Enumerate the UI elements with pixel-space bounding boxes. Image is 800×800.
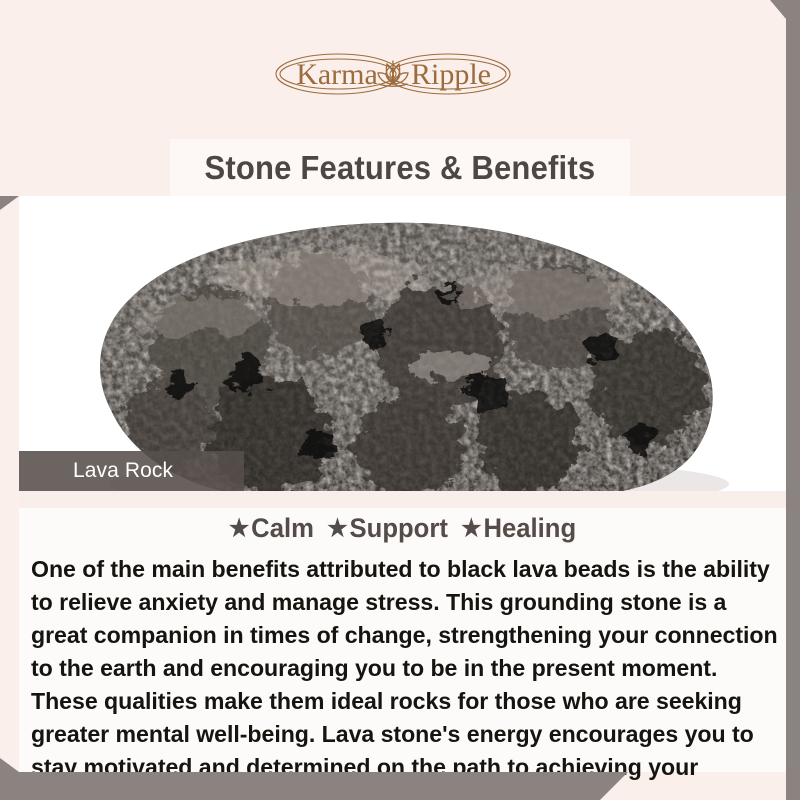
- header-region: Karma Ripple Stone Features & Benefits: [0, 0, 786, 196]
- corner-bevel-left: [0, 196, 19, 210]
- star-icon: ★: [327, 515, 347, 542]
- benefit-label-calm: Calm: [251, 513, 314, 543]
- frame-bottom-bar-bevel: [600, 772, 628, 800]
- brand-logo-svg: Karma Ripple: [243, 44, 543, 104]
- frame-right-bar: [786, 0, 800, 800]
- corner-bevel-bottom-left: [0, 758, 19, 772]
- content-panel-top-strip: [19, 491, 786, 508]
- benefit-label-support: Support: [350, 513, 448, 543]
- image-caption-chip: Lava Rock: [19, 451, 244, 491]
- image-caption-label: Lava Rock: [73, 459, 173, 483]
- benefit-label-healing: Healing: [484, 513, 577, 543]
- infographic-card: Karma Ripple Stone Features & Benefits: [0, 0, 800, 800]
- benefits-tagline: ★Calm★Support★Healing: [38, 513, 767, 544]
- content-panel: ★Calm★Support★Healing One of the main be…: [19, 491, 786, 772]
- brand-word-right: Ripple: [411, 58, 491, 91]
- hero-image-panel: [19, 196, 786, 491]
- frame-right-bar-notch: [786, 0, 800, 19]
- corner-bevel-top-right: [770, 0, 786, 19]
- page-title: Stone Features & Benefits: [205, 149, 596, 187]
- lava-rock-image: [19, 196, 786, 491]
- body-paragraph: One of the main benefits attributed to b…: [31, 553, 780, 800]
- frame-bottom-bar: [0, 772, 600, 800]
- star-icon: ★: [461, 515, 481, 542]
- brand-word-left: Karma: [296, 58, 378, 91]
- brand-logo: Karma Ripple: [0, 44, 786, 106]
- title-banner: Stone Features & Benefits: [170, 139, 630, 196]
- star-icon: ★: [229, 515, 249, 542]
